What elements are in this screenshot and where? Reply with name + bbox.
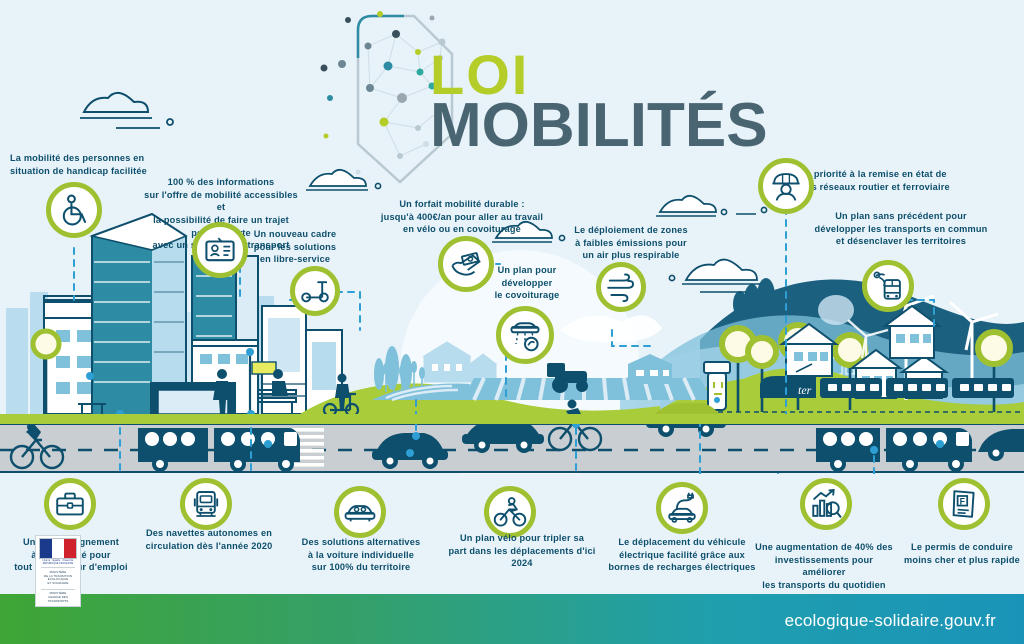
wind-icon — [605, 271, 637, 303]
badge-libreservice[interactable] — [290, 266, 340, 316]
badge-invest[interactable] — [800, 478, 852, 530]
wheelchair-icon — [57, 193, 91, 227]
callout-libreservice: Un nouveau cadre pour les solutions en l… — [240, 228, 350, 266]
logo-ministry-2: MINISTÈRE CHARGÉ DES TRANSPORTS — [48, 592, 69, 604]
badge-zfe[interactable] — [596, 262, 646, 312]
ministry-logo: Liberté · Égalité · Fraternité RÉPUBLIQU… — [35, 535, 81, 607]
badge-solutions[interactable] — [334, 486, 386, 538]
badge-handicap[interactable] — [46, 182, 102, 238]
badge-reseaux[interactable] — [758, 158, 814, 214]
briefcase-icon — [54, 488, 86, 520]
ev-charging-icon — [665, 491, 699, 525]
callout-invest: Une augmentation de 40% des investisseme… — [754, 541, 894, 592]
callout-solutions: Des solutions alternatives à la voiture … — [296, 536, 426, 574]
logo-divider-2 — [41, 589, 75, 590]
badge-transports[interactable] — [862, 260, 914, 312]
svg-text:F: F — [960, 496, 966, 506]
shuttle-bus-icon — [190, 488, 222, 520]
infographic-poster: ter — [0, 0, 1024, 644]
callout-handicap: La mobilité des personnes en situation d… — [10, 152, 160, 177]
logo-motto: Liberté · Égalité · Fraternité — [43, 560, 74, 562]
hand-money-icon — [449, 247, 483, 281]
badge-forfait[interactable] — [438, 236, 494, 292]
badge-permis[interactable]: F — [938, 478, 990, 530]
car-passengers-icon — [343, 495, 377, 529]
poster-title: LOI MOBILITÉS — [430, 48, 760, 156]
logo-divider-1 — [41, 567, 75, 568]
callout-permis: Le permis de conduire moins cher et plus… — [900, 541, 1024, 566]
cyclist-icon — [493, 495, 527, 529]
drivers-licence-icon: F — [948, 488, 980, 520]
id-card-icon — [203, 233, 237, 267]
badge-emploi[interactable] — [44, 478, 96, 530]
callout-transports: Un plan sans précédent pour développer l… — [800, 210, 1002, 248]
title-line-mobilites: MOBILITÉS — [430, 97, 760, 156]
badge-electrique[interactable] — [656, 482, 708, 534]
bus-icon — [871, 269, 905, 303]
callout-navettes: Des navettes autonomes en circulation dè… — [142, 527, 276, 552]
logo-ministry-1: MINISTÈRE DE LA TRANSITION ÉCOLOGIQUE ET… — [44, 571, 72, 587]
callout-reseaux: La priorité à la remise en état de nos r… — [800, 168, 970, 193]
logo-republic: RÉPUBLIQUE FRANÇAISE — [43, 563, 74, 565]
badge-velo[interactable] — [484, 486, 536, 538]
badge-covoiturage[interactable] — [496, 306, 554, 364]
worker-helmet-icon — [769, 169, 803, 203]
badge-information[interactable] — [192, 222, 248, 278]
callout-forfait: Un forfait mobilité durable : jusqu'à 40… — [380, 198, 544, 236]
callout-electrique: Le déplacement du véhicule électrique fa… — [608, 536, 756, 574]
carpool-icon — [507, 317, 543, 353]
callout-zfe: Le déploiement de zones à faibles émissi… — [570, 224, 692, 262]
badge-navettes[interactable] — [180, 478, 232, 530]
callout-velo: Un plan vélo pour tripler sa part dans l… — [442, 532, 602, 570]
bar-chart-magnifier-icon — [809, 487, 843, 521]
french-flag-icon — [39, 538, 77, 559]
footer-url[interactable]: ecologique-solidaire.gouv.fr — [785, 611, 996, 631]
scooter-icon — [299, 275, 331, 307]
